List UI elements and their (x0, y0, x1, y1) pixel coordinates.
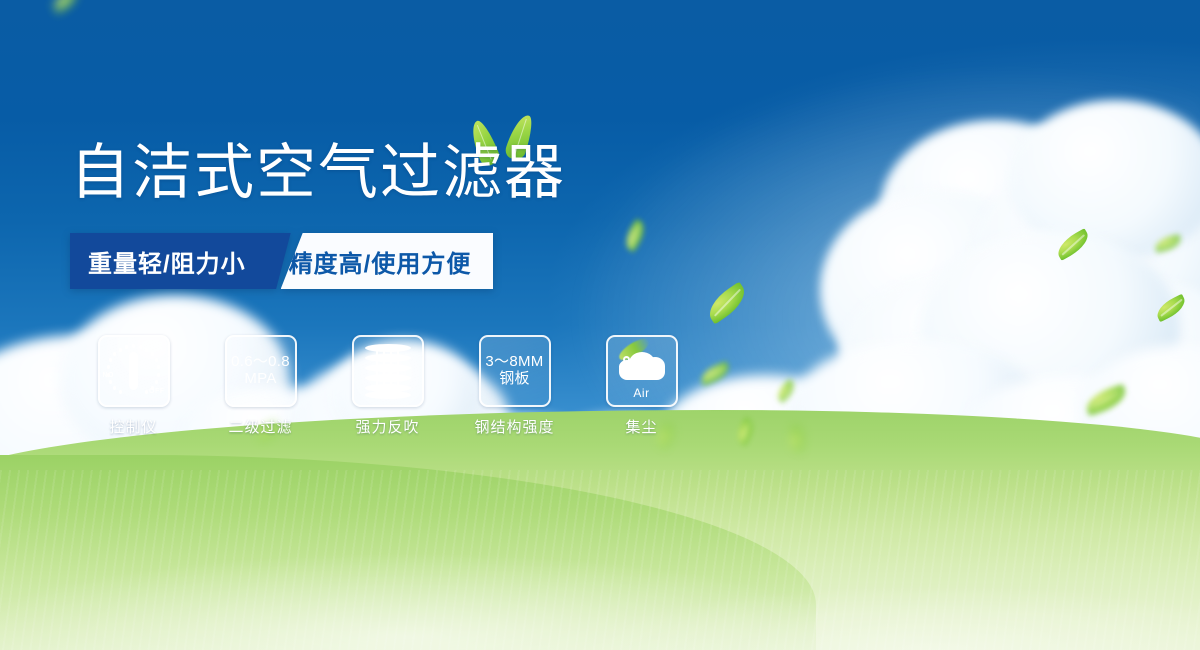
subtitle-left: 重量轻/阻力小 (70, 233, 266, 289)
feature-item-blowback[interactable]: 强力反吹 (324, 335, 451, 437)
feature-label: 集尘 (625, 416, 657, 437)
gauge-on-label: NO (103, 372, 115, 379)
feature-label: 强力反吹 (355, 416, 419, 437)
gauge-off-label: OFF (149, 388, 165, 395)
subtitle-bar: 重量轻/阻力小 精度高/使用方便 (70, 233, 493, 289)
feature-item-filtration[interactable]: 0.6～0.8 MPA 二级过滤 (197, 335, 324, 437)
feature-icon-box: Air (606, 335, 678, 407)
banner-root: 自洁式空气过滤器 重量轻/阻力小 精度高/使用方便 (0, 0, 1200, 650)
icon-text-line1: 3～8MM (485, 354, 543, 371)
coil-pulse-icon (365, 344, 411, 398)
icon-text-line1: 0.6～0.8 (231, 354, 290, 371)
feature-item-control[interactable]: NO OFF 控制仪 (70, 335, 197, 437)
feature-list: NO OFF 控制仪 0.6～0.8 MPA 二级过滤 (70, 335, 705, 437)
page-title: 自洁式空气过滤器 (70, 143, 566, 203)
gauge-needle (129, 352, 138, 390)
gauge-icon: NO OFF (104, 343, 164, 399)
steel-text-icon: 3～8MM 钢板 (485, 354, 543, 388)
feature-label: 钢结构强度 (474, 416, 554, 437)
feature-item-steel[interactable]: 3～8MM 钢板 钢结构强度 (451, 335, 578, 437)
grass-texture-streaks (0, 470, 1200, 650)
feature-item-dust[interactable]: Air 集尘 (578, 335, 705, 437)
feature-label: 二级过滤 (228, 416, 292, 437)
subtitle-right: 精度高/使用方便 (281, 233, 494, 289)
feature-icon-box: NO OFF (98, 335, 170, 407)
feature-icon-box: 3～8MM 钢板 (479, 335, 551, 407)
icon-text-line2: MPA (231, 371, 290, 388)
feature-label: 控制仪 (109, 416, 157, 437)
pressure-text-icon: 0.6～0.8 MPA (231, 354, 290, 388)
feature-icon-box (352, 335, 424, 407)
air-label: Air (613, 386, 671, 400)
cloud-air-icon: Air (613, 346, 671, 396)
icon-text-line2: 钢板 (485, 371, 543, 388)
feature-icon-box: 0.6～0.8 MPA (225, 335, 297, 407)
